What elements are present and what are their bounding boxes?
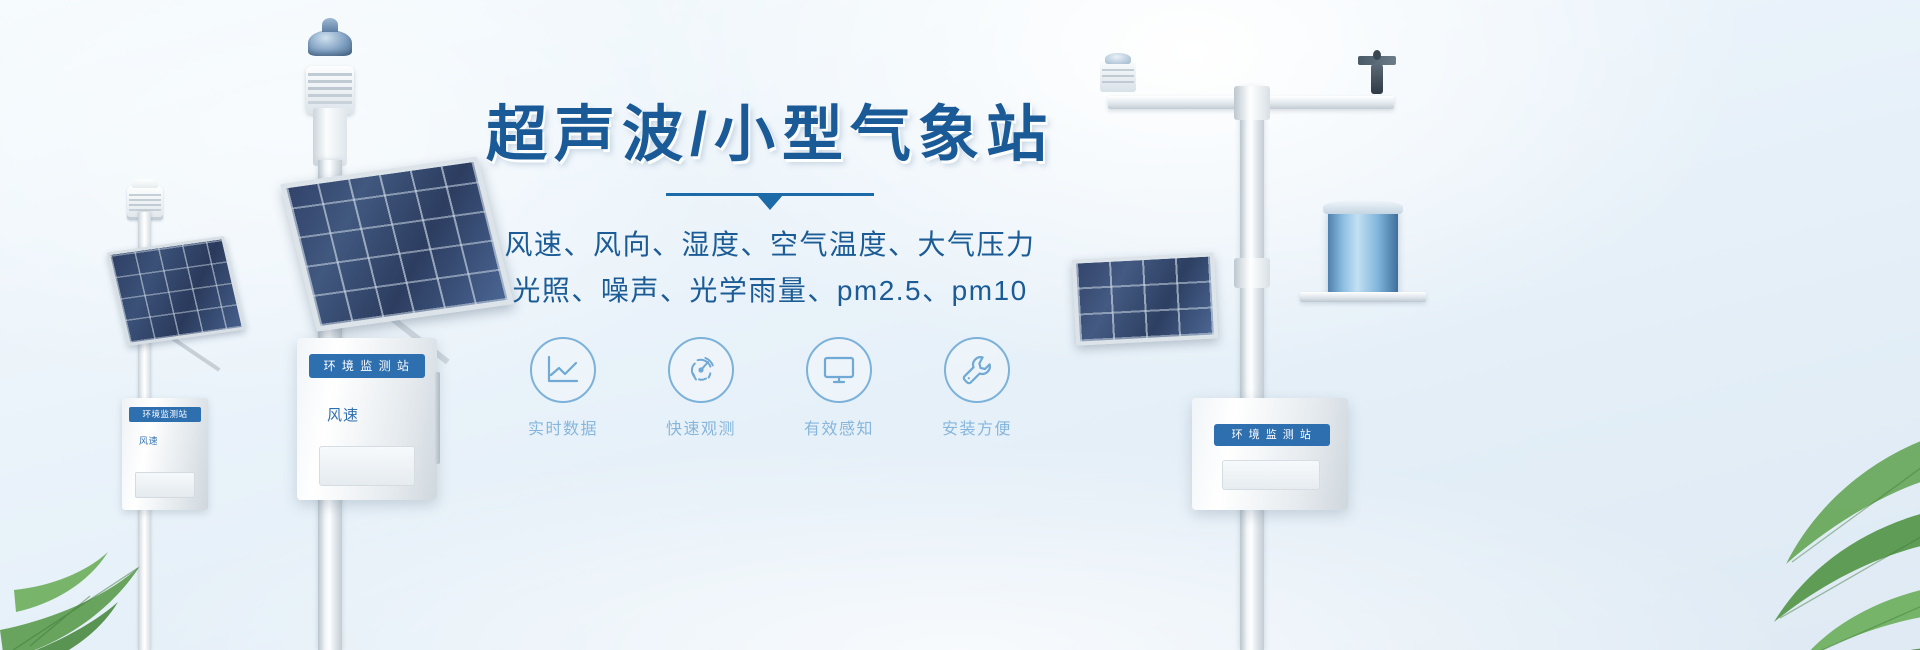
station-pole [1240,88,1264,650]
radiation-shield-sensor-icon [306,66,354,114]
feature-label: 安装方便 [933,415,1021,439]
pole-collar [1234,258,1270,288]
subtitle-line-1: 风速、风向、湿度、空气温度、大气压力 [440,222,1100,267]
cabinet-vent [135,472,195,498]
cabinet-label: 环 境 监 测 站 [309,354,425,378]
feature-label: 有效感知 [795,415,883,439]
wrench-icon [944,337,1010,403]
cabinet-vent [319,446,415,486]
radar-sensor-icon [668,337,734,403]
cabinet-label: 环 境 监 测 站 [1214,424,1330,446]
brand-logo: 风速 [139,434,158,447]
banner-content: 超声波/小型气象站 风速、风向、湿度、空气温度、大气压力 光照、噪声、光学雨量、… [440,100,1100,439]
hero-banner: 环境监测站 风速 环 境 监 测 站 风速 环 境 监 [0,0,1920,650]
triangle-down-icon [757,195,783,210]
cabinet-vent [1222,460,1320,490]
line-chart-icon [530,337,596,403]
leaf-decoration-right [1640,400,1920,650]
feature-item-easy-installation[interactable]: 安装方便 [933,337,1021,439]
dome-sensor-icon [308,30,352,56]
feature-item-realtime-data[interactable]: 实时数据 [519,337,607,439]
equipment-cabinet: 环 境 监 测 站 [1192,398,1348,510]
subtitle-block: 风速、风向、湿度、空气温度、大气压力 光照、噪声、光学雨量、pm2.5、pm10 [440,222,1100,313]
feature-label: 快速观测 [657,415,745,439]
feature-label: 实时数据 [519,415,607,439]
ultrasonic-sensor-icon [1100,62,1136,92]
feature-list: 实时数据 快速观测 [440,337,1100,439]
page-title: 超声波/小型气象站 [440,100,1100,168]
rain-gauge-icon [1328,208,1398,294]
cabinet-label: 环境监测站 [129,407,201,422]
sensor-stack [313,108,347,166]
pole-collar [1234,86,1270,120]
feature-item-fast-observation[interactable]: 快速观测 [657,337,745,439]
subtitle-line-2: 光照、噪声、光学雨量、pm2.5、pm10 [440,268,1100,313]
feature-item-effective-sensing[interactable]: 有效感知 [795,337,883,439]
solar-panel [107,236,246,346]
brand-logo: 风速 [327,404,359,425]
wind-vane-icon [1362,50,1392,96]
mounting-shelf [1300,292,1426,302]
monitor-icon [806,337,872,403]
equipment-cabinet: 环 境 监 测 站 风速 [297,338,437,500]
title-divider [666,190,874,212]
equipment-cabinet: 环境监测站 风速 [122,398,208,510]
